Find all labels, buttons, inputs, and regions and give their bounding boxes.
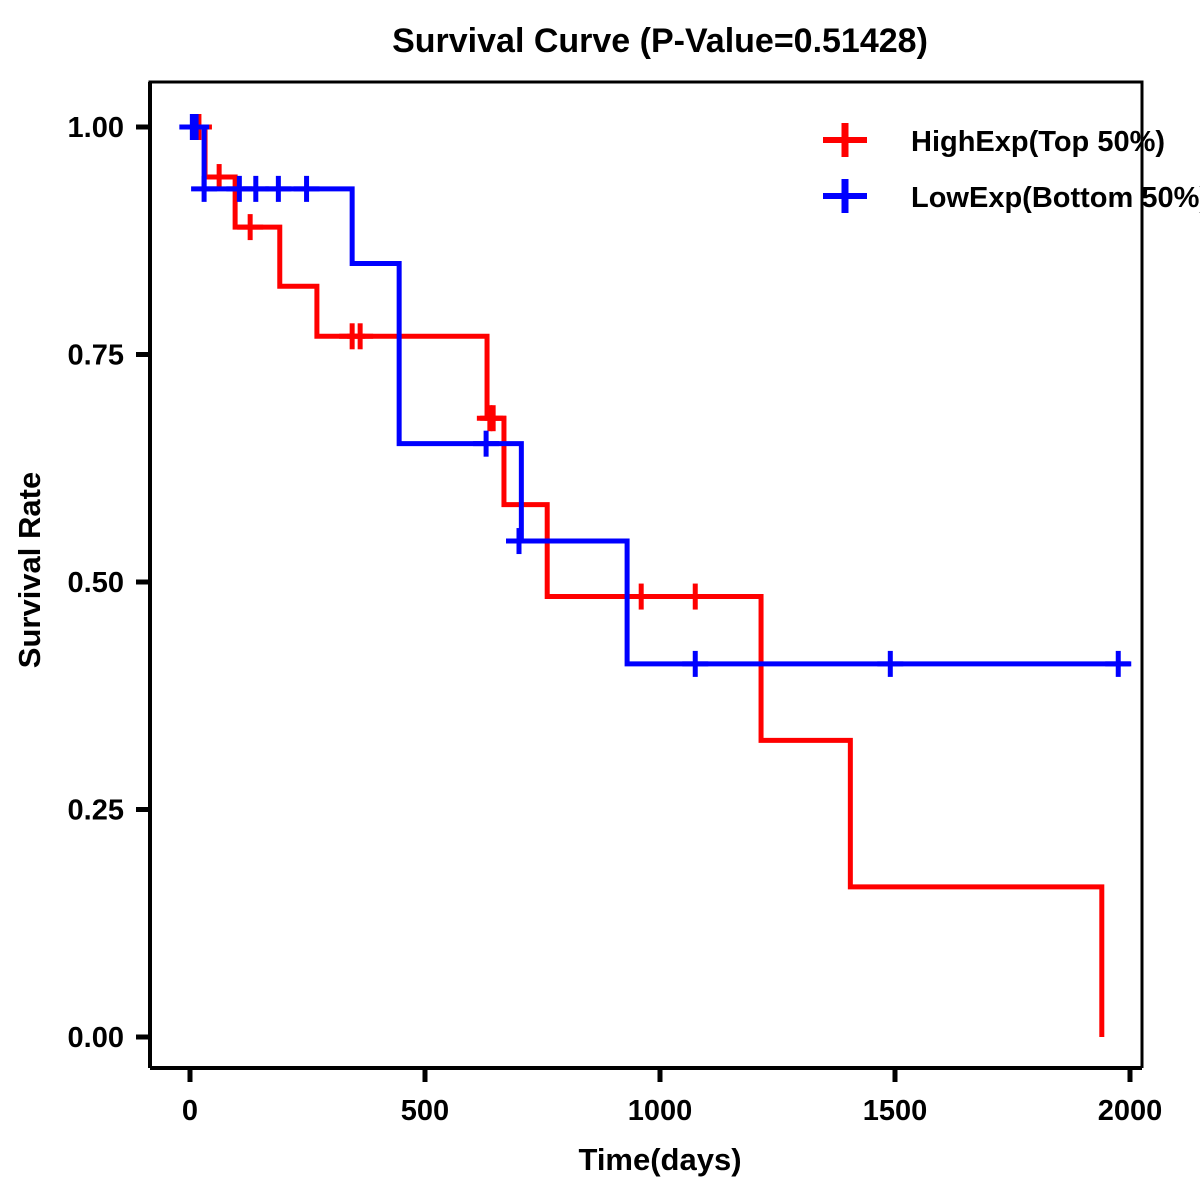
x-tick-label-1000: 1000	[628, 1095, 693, 1127]
survival-curve-figure: Survival Curve (P-Value=0.51428) 0500100…	[0, 0, 1200, 1200]
figure-background	[0, 0, 1200, 1200]
x-tick-label-0: 0	[182, 1095, 198, 1127]
y-tick-label-0.75: 0.75	[68, 340, 124, 372]
chart-title: Survival Curve (P-Value=0.51428)	[392, 22, 928, 60]
y-tick-label-1.00: 1.00	[68, 112, 124, 144]
legend-label: LowExp(Bottom 50%)	[911, 182, 1200, 214]
chart-canvas: Survival Curve (P-Value=0.51428) 0500100…	[0, 0, 1200, 1200]
y-axis-label: Survival Rate	[12, 472, 47, 668]
y-tick-label-0.00: 0.00	[68, 1022, 124, 1054]
x-axis-label: Time(days)	[578, 1142, 741, 1177]
legend-label: HighExp(Top 50%)	[911, 126, 1165, 158]
x-tick-label-1500: 1500	[863, 1095, 928, 1127]
y-tick-label-0.50: 0.50	[68, 567, 124, 599]
y-tick-label-0.25: 0.25	[68, 795, 124, 827]
x-tick-label-2000: 2000	[1098, 1095, 1163, 1127]
x-tick-label-500: 500	[401, 1095, 449, 1127]
